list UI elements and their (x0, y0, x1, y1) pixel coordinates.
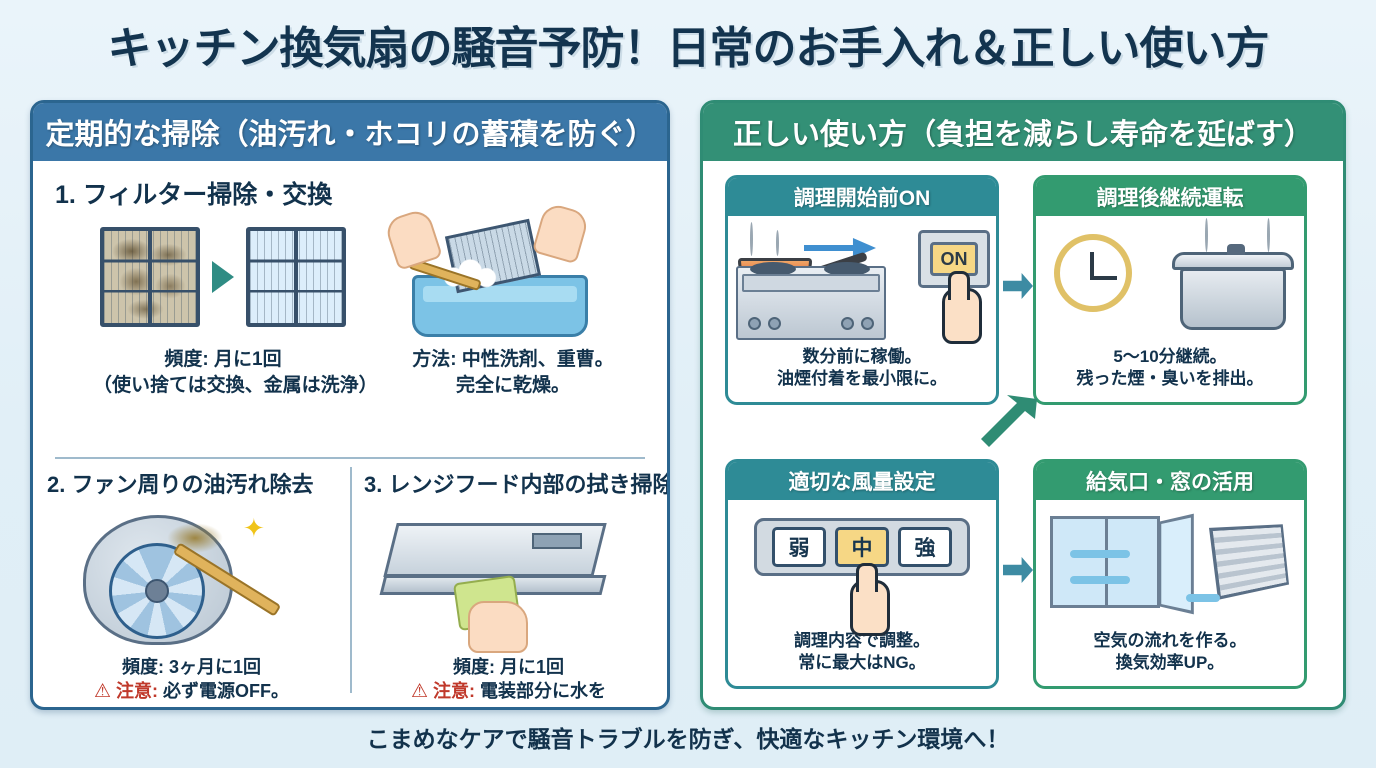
page-title: キッチン換気扇の騒音予防！日常のお手入れ＆正しい使い方 (0, 12, 1376, 76)
card3-title: 適切な風量設定 (728, 462, 996, 500)
cooking-pot-icon (1180, 268, 1286, 330)
washing-illustration (378, 217, 648, 337)
section2-warning-label: 注意: (116, 681, 158, 701)
card1-caption: 数分前に稼働。 油煙付着を最小限に。 (728, 346, 996, 390)
dirty-filter-icon (100, 227, 200, 327)
card2-illustration (1036, 216, 1304, 346)
window-icon (1050, 516, 1160, 608)
card-turn-on-before-cooking: 調理開始前ON (725, 175, 999, 405)
airflow-arrow-icon (1070, 576, 1130, 584)
hood-control-panel-icon (532, 533, 582, 549)
section1-filter-group: 頻度: 月に1回 （使い捨ては交換、金属は洗浄） (93, 217, 353, 398)
card2-title: 調理後継続運転 (1036, 178, 1304, 216)
right-panel-header: 正しい使い方（負担を減らし寿命を延ばす） (703, 103, 1343, 161)
arrow-card2-to-card3-icon (971, 393, 1043, 457)
section1-method-line1: 方法: 中性洗剤、重曹。 (378, 347, 648, 373)
card2-caption-line1: 5〜10分継続。 (1036, 346, 1304, 368)
section3-title: 3. レンジフード内部の拭き掃除 (364, 467, 653, 499)
pointing-hand-icon (850, 580, 890, 636)
card-air-intake-window: 給気口・窓の活用 空気の流れを作る。 換気効率UP。 (1033, 459, 1307, 689)
footer-message: こまめなケアで騒音トラブルを防ぎ、快適なキッチン環境へ！ (0, 720, 1376, 754)
filter-before-after-illustration (93, 217, 353, 337)
section1-method-caption: 方法: 中性洗剤、重曹。 完全に乾燥。 (378, 347, 648, 398)
left-panel-header: 定期的な掃除（油汚れ・ホコリの蓄積を防ぐ） (33, 103, 667, 161)
left-panel-body: 1. フィルター掃除・交換 頻度: 月に1回 （使い捨ては交換、金属は洗浄） (33, 161, 667, 707)
wiping-hand-icon (468, 601, 528, 653)
transform-arrow-icon (212, 261, 234, 293)
sparkle-icon: ✦ (243, 513, 265, 544)
section-hood-wiping: 3. レンジフード内部の拭き掃除 頻度: 月に1回 ⚠ 注意: 電装部分に水を (350, 467, 667, 710)
card4-caption: 空気の流れを作る。 換気効率UP。 (1036, 630, 1304, 674)
arrow-card3-to-card4-icon (1003, 557, 1033, 583)
section3-warning-row: ⚠ 注意: 電装部分に水を (364, 679, 653, 705)
card2-caption-line2: 残った煙・臭いを排出。 (1036, 368, 1304, 390)
section1-method-group: 方法: 中性洗剤、重曹。 完全に乾燥。 (378, 217, 648, 398)
section1-frequency-line1: 頻度: 月に1回 (93, 347, 353, 373)
card4-illustration (1036, 500, 1304, 630)
section2-frequency: 頻度: 3ヶ月に1回 (47, 655, 336, 679)
gas-stove-icon (736, 266, 886, 340)
steam-icon (750, 222, 753, 256)
card1-illustration: ON (728, 216, 996, 346)
steam-icon (776, 230, 779, 256)
card4-title: 給気口・窓の活用 (1036, 462, 1304, 500)
card-keep-running-after-cooking: 調理後継続運転 5〜10分継続。 残った煙・臭いを排出。 (1033, 175, 1307, 405)
section2-title: 2. ファン周りの油汚れ除去 (47, 467, 336, 499)
section2-notes: 頻度: 3ヶ月に1回 ⚠ 注意: 必ず電源OFF。 水濡れ厳禁。 (47, 655, 336, 710)
pointing-hand-icon (942, 288, 982, 344)
warning-triangle-icon: ⚠ (411, 681, 428, 702)
fan-illustration: ✦ (47, 505, 336, 655)
section-fan-degreasing: 2. ファン周りの油汚れ除去 ✦ 頻度: 3ヶ月に1回 ⚠ 注意: 必ず電源OF… (33, 467, 350, 710)
section1-frequency-line2: （使い捨ては交換、金属は洗浄） (93, 373, 353, 399)
range-hood-illustration (364, 505, 653, 655)
infographic-page: キッチン換気扇の騒音予防！日常のお手入れ＆正しい使い方 定期的な掃除（油汚れ・ホ… (0, 0, 1376, 768)
card2-caption: 5〜10分継続。 残った煙・臭いを排出。 (1036, 346, 1304, 390)
steam-icon (1205, 218, 1208, 252)
section2-warning-row: ⚠ 注意: 必ず電源OFF。 (47, 679, 336, 705)
arrow-card1-to-card2-icon (1003, 273, 1033, 299)
card-airflow-setting: 適切な風量設定 弱 中 強 調理内容で調整。 常に最大はNG。 (725, 459, 999, 689)
section1-frequency-caption: 頻度: 月に1回 （使い捨ては交換、金属は洗浄） (93, 347, 353, 398)
hood-body-icon (383, 523, 606, 577)
fan-hub-icon (145, 579, 169, 603)
section-filter-cleaning: 1. フィルター掃除・交換 頻度: 月に1回 （使い捨ては交換、金属は洗浄） (33, 161, 667, 451)
steam-icon (1267, 218, 1270, 252)
card3-caption: 調理内容で調整。 常に最大はNG。 (728, 630, 996, 674)
panel-regular-cleaning: 定期的な掃除（油汚れ・ホコリの蓄積を防ぐ） 1. フィルター掃除・交換 (30, 100, 670, 710)
card1-caption-line2: 油煙付着を最小限に。 (728, 368, 996, 390)
section2-warning-line2: 水濡れ厳禁。 (47, 705, 336, 710)
air-vent-icon (1209, 524, 1289, 600)
section3-notes: 頻度: 月に1回 ⚠ 注意: 電装部分に水を かけない。 (364, 655, 653, 710)
card1-caption-line1: 数分前に稼働。 (728, 346, 996, 368)
section2-warning-line1: 必ず電源OFF。 (163, 681, 289, 701)
section1-title: 1. フィルター掃除・交換 (55, 175, 332, 211)
section3-warning-line1: 電装部分に水を (480, 681, 606, 701)
card3-caption-line2: 常に最大はNG。 (728, 652, 996, 674)
panel-correct-usage: 正しい使い方（負担を減らし寿命を延ばす） 調理開始前ON (700, 100, 1346, 710)
horizontal-divider (55, 457, 645, 459)
airflow-arrow-icon (1070, 550, 1130, 558)
card4-caption-line1: 空気の流れを作る。 (1036, 630, 1304, 652)
card1-title: 調理開始前ON (728, 178, 996, 216)
speed-button-low[interactable]: 弱 (772, 527, 826, 567)
airflow-arrow-icon (1186, 594, 1220, 602)
card4-caption-line2: 換気効率UP。 (1036, 652, 1304, 674)
section3-frequency: 頻度: 月に1回 (364, 655, 653, 679)
speed-button-medium[interactable]: 中 (835, 527, 889, 567)
card3-illustration: 弱 中 強 (728, 500, 996, 630)
right-panel-body: 調理開始前ON (703, 161, 1343, 707)
speed-button-high[interactable]: 強 (898, 527, 952, 567)
section1-method-line2: 完全に乾燥。 (378, 373, 648, 399)
warning-triangle-icon: ⚠ (94, 681, 111, 702)
section3-warning-label: 注意: (433, 681, 475, 701)
hand-right-icon (532, 202, 591, 265)
clean-filter-icon (246, 227, 346, 327)
clock-icon (1054, 234, 1132, 312)
section3-warning-line2: かけない。 (364, 705, 653, 710)
hand-left-icon (383, 207, 443, 271)
